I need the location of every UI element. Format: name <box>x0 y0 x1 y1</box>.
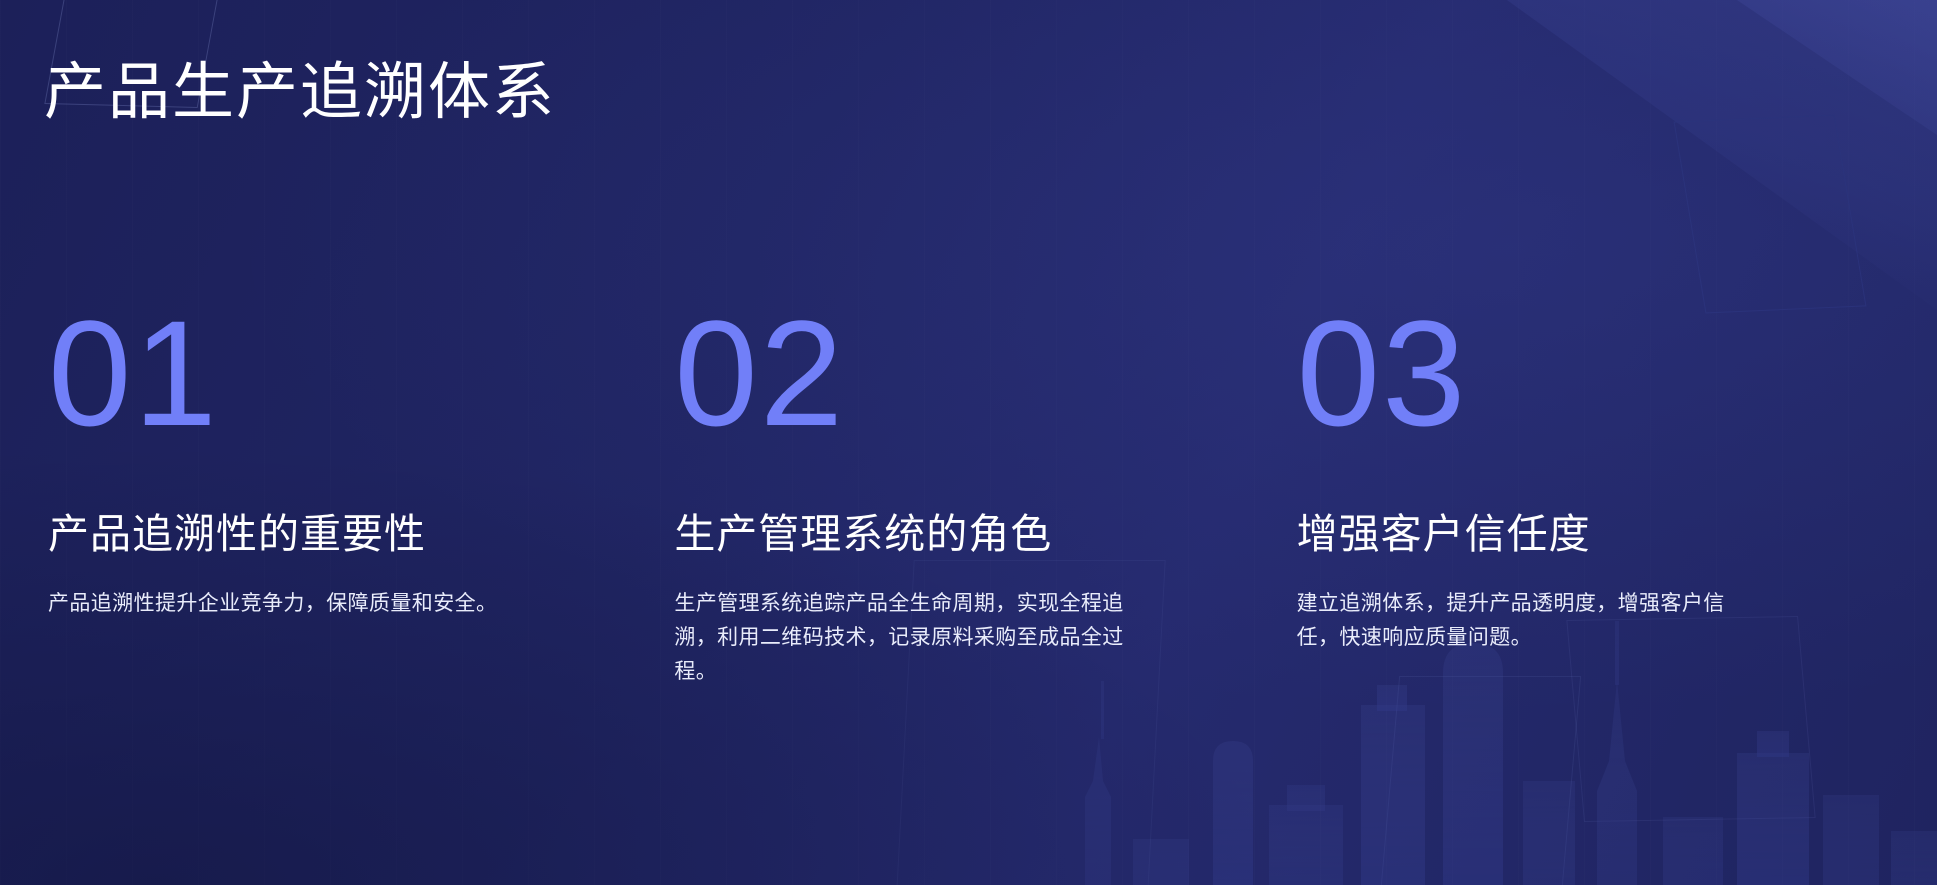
feature-column-03: 03 增强客户信任度 建立追溯体系，提升产品透明度，增强客户信任，快速响应质量问… <box>1277 300 1893 689</box>
slide-canvas: 产品生产追溯体系 01 产品追溯性的重要性 产品追溯性提升企业竞争力，保障质量和… <box>0 0 1937 885</box>
feature-heading-02: 生产管理系统的角色 <box>674 509 1212 560</box>
page-title: 产品生产追溯体系 <box>44 56 556 129</box>
slide-content: 产品生产追溯体系 01 产品追溯性的重要性 产品追溯性提升企业竞争力，保障质量和… <box>0 0 1937 885</box>
feature-heading-03: 增强客户信任度 <box>1297 509 1829 560</box>
feature-number-03: 03 <box>1297 300 1829 447</box>
feature-column-02: 02 生产管理系统的角色 生产管理系统追踪产品全生命周期，实现全程追溯，利用二维… <box>660 300 1276 689</box>
feature-heading-01: 产品追溯性的重要性 <box>48 509 596 560</box>
feature-body-02: 生产管理系统追踪产品全生命周期，实现全程追溯，利用二维码技术，记录原料采购至成品… <box>674 587 1144 689</box>
feature-number-01: 01 <box>48 300 596 447</box>
feature-body-03: 建立追溯体系，提升产品透明度，增强客户信任，快速响应质量问题。 <box>1297 587 1767 655</box>
feature-number-02: 02 <box>674 300 1212 447</box>
feature-column-01: 01 产品追溯性的重要性 产品追溯性提升企业竞争力，保障质量和安全。 <box>44 300 660 689</box>
feature-columns: 01 产品追溯性的重要性 产品追溯性提升企业竞争力，保障质量和安全。 02 生产… <box>44 300 1893 689</box>
feature-body-01: 产品追溯性提升企业竞争力，保障质量和安全。 <box>48 587 518 621</box>
